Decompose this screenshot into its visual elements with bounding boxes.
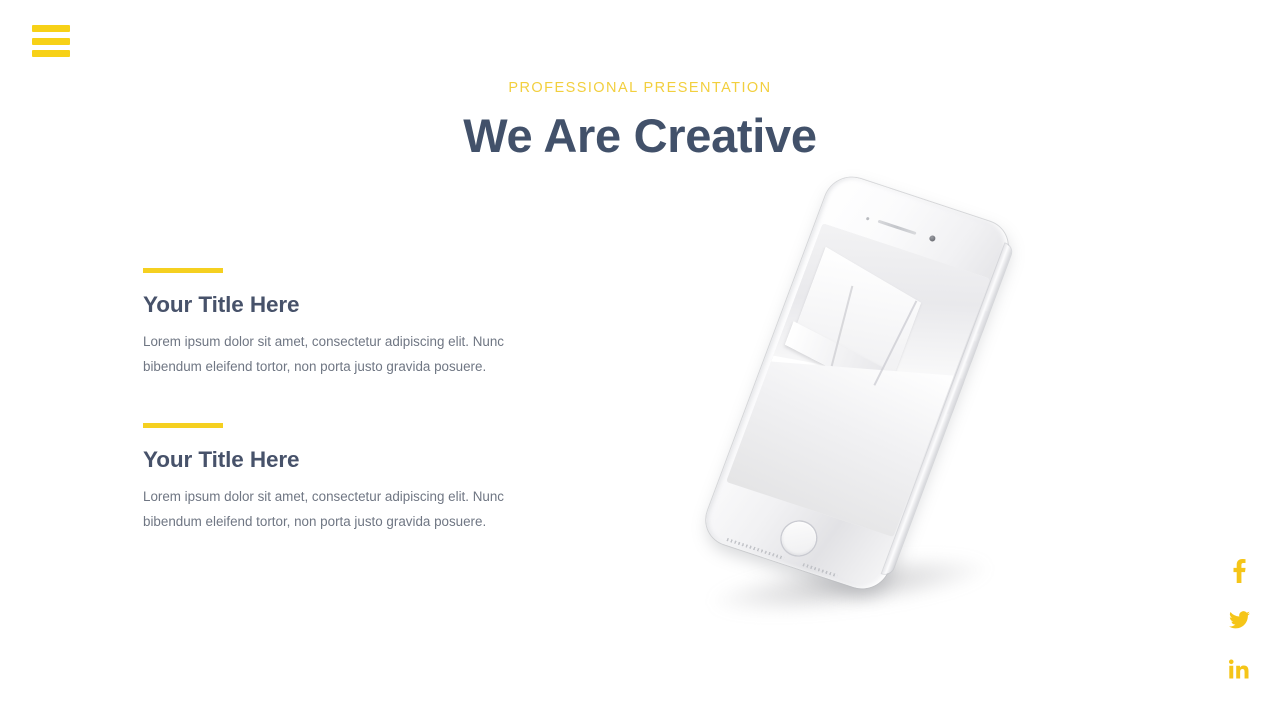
phone-screen bbox=[726, 223, 990, 537]
phone-device bbox=[698, 170, 1015, 595]
page-title: We Are Creative bbox=[0, 108, 1280, 163]
presentation-slide: PROFESSIONAL PRESENTATION We Are Creativ… bbox=[0, 0, 1280, 720]
feature-title: Your Title Here bbox=[143, 447, 563, 473]
hamburger-bar-1 bbox=[32, 25, 70, 32]
social-links bbox=[1226, 556, 1252, 684]
linkedin-icon[interactable] bbox=[1226, 654, 1252, 684]
accent-bar bbox=[143, 423, 223, 428]
feature-body: Lorem ipsum dolor sit amet, consectetur … bbox=[143, 329, 515, 379]
feature-title: Your Title Here bbox=[143, 292, 563, 318]
accent-bar bbox=[143, 268, 223, 273]
screen-artwork bbox=[726, 223, 990, 537]
phone-mockup bbox=[700, 180, 1040, 660]
feature-block: Your Title Here Lorem ipsum dolor sit am… bbox=[143, 423, 563, 534]
feature-block: Your Title Here Lorem ipsum dolor sit am… bbox=[143, 268, 563, 379]
feature-body: Lorem ipsum dolor sit amet, consectetur … bbox=[143, 484, 515, 534]
hamburger-bar-3 bbox=[32, 50, 70, 57]
slide-eyebrow: PROFESSIONAL PRESENTATION bbox=[0, 80, 1280, 96]
hamburger-menu-icon[interactable] bbox=[32, 25, 70, 57]
hamburger-bar-2 bbox=[32, 38, 70, 45]
feature-list: Your Title Here Lorem ipsum dolor sit am… bbox=[143, 268, 563, 534]
facebook-icon[interactable] bbox=[1226, 556, 1252, 586]
twitter-icon[interactable] bbox=[1226, 605, 1252, 635]
